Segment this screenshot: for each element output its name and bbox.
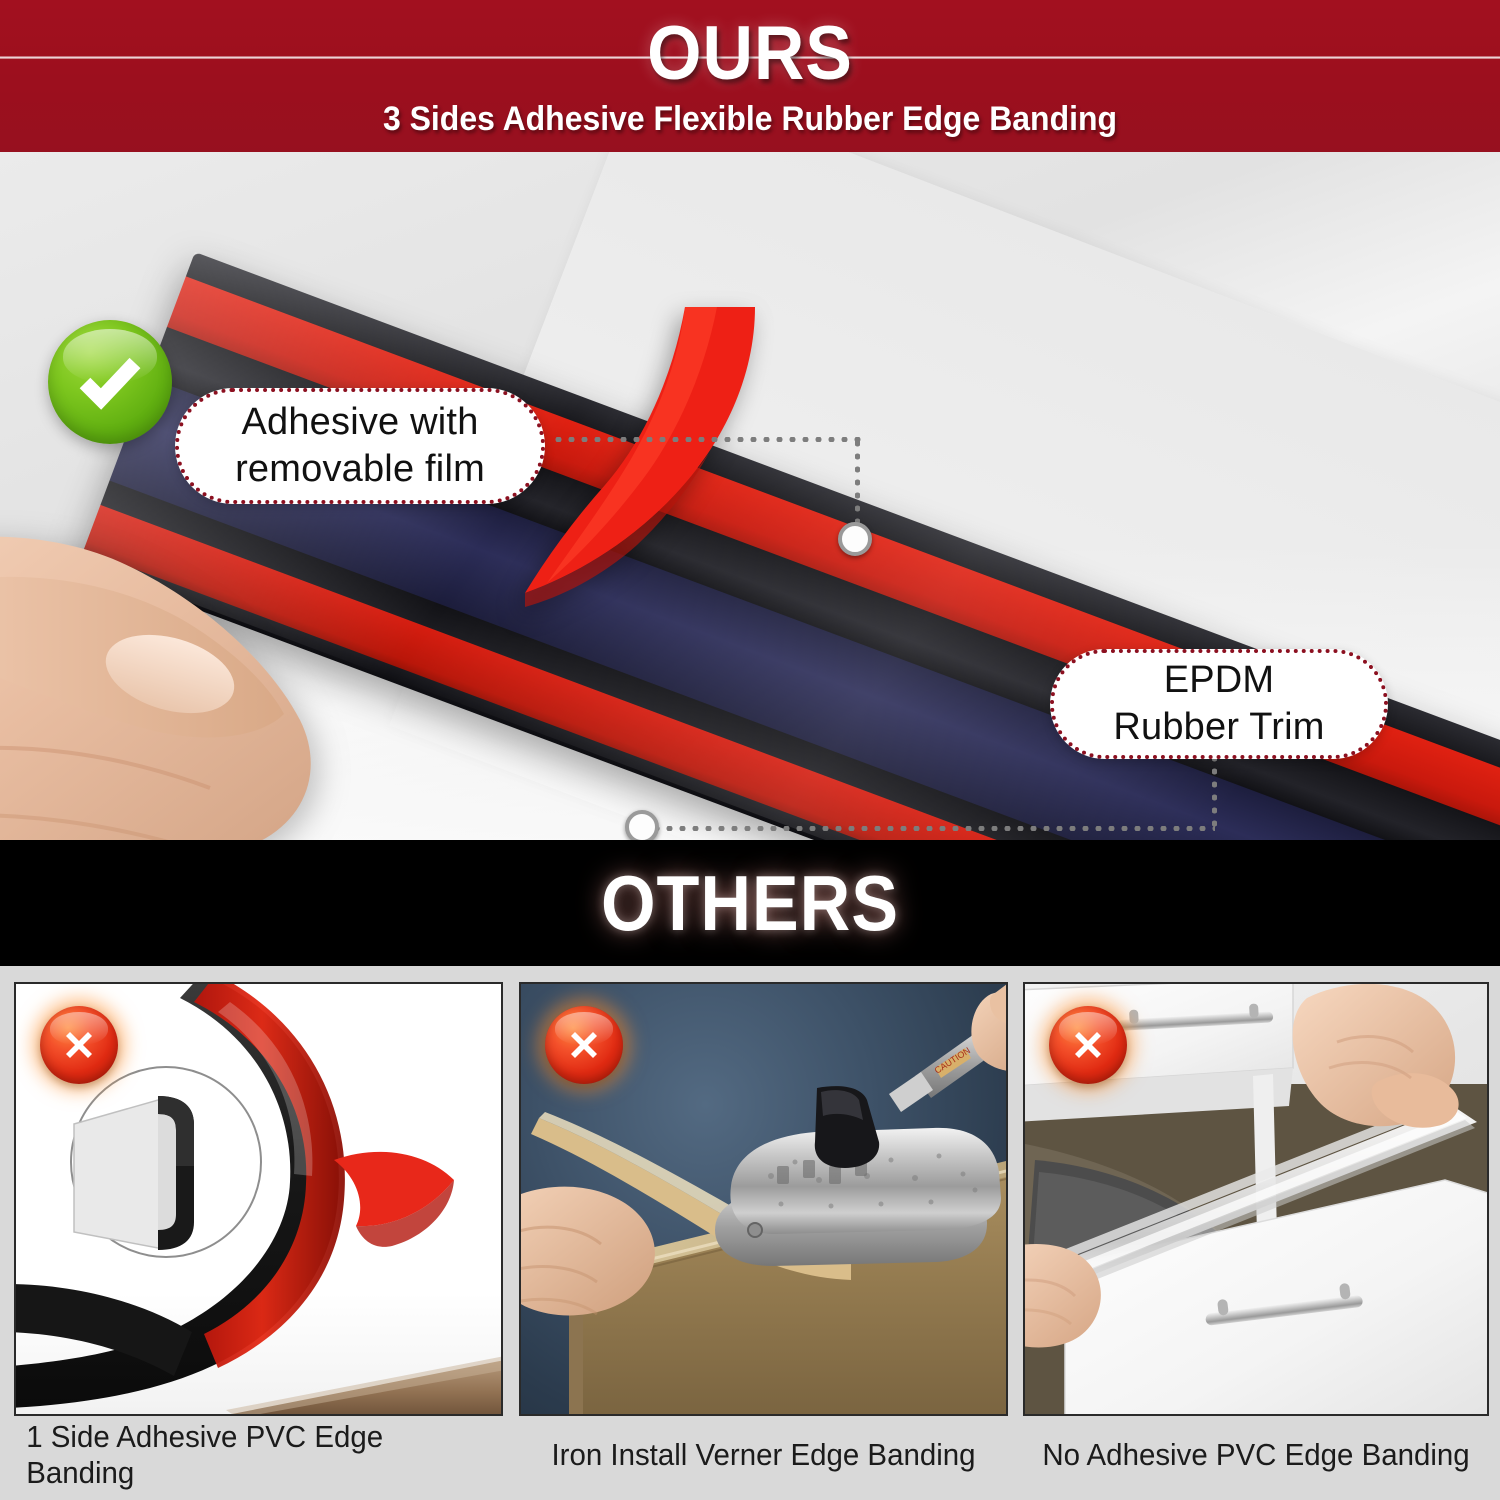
red-x-icon	[40, 1006, 118, 1084]
hero-product-photo: Adhesive with removable film EPDM Rubber…	[0, 152, 1500, 840]
callout-adhesive-line2: removable film	[235, 446, 485, 493]
callout-epdm-line2: Rubber Trim	[1113, 704, 1324, 751]
panel-pvc-no-adhesive	[1023, 982, 1489, 1416]
callout-epdm-rubber-trim: EPDM Rubber Trim	[1050, 649, 1388, 759]
page-title: OURS	[60, 4, 1440, 104]
comparison-panels: CAUTION	[0, 966, 1500, 1500]
callout-adhesive-line1: Adhesive with	[235, 399, 485, 446]
hand-holding-trim	[0, 452, 510, 840]
panel-pvc-1-side	[14, 982, 503, 1416]
callout-adhesive-removable-film: Adhesive with removable film	[175, 388, 545, 504]
anchor-dot-epdm	[625, 810, 659, 840]
anchor-dot-adhesive	[838, 522, 872, 556]
red-x-icon	[1049, 1006, 1127, 1084]
panel-caption-3: No Adhesive PVC Edge Banding	[1035, 1426, 1478, 1484]
others-title: OTHERS	[75, 840, 1425, 966]
page-subtitle: 3 Sides Adhesive Flexible Rubber Edge Ba…	[45, 98, 1455, 140]
leader-line-epdm-horizontal	[650, 826, 1215, 831]
leader-line-adhesive-horizontal	[552, 437, 862, 442]
panel-caption-1: 1 Side Adhesive PVC Edge Banding	[26, 1426, 491, 1484]
green-check-icon	[48, 320, 172, 444]
panel-caption-2: Iron Install Verner Edge Banding	[531, 1426, 996, 1484]
panel-iron-verner: CAUTION	[519, 982, 1008, 1416]
callout-epdm-line1: EPDM	[1113, 657, 1324, 704]
red-x-icon	[545, 1006, 623, 1084]
leader-line-epdm-vertical	[1212, 752, 1217, 830]
